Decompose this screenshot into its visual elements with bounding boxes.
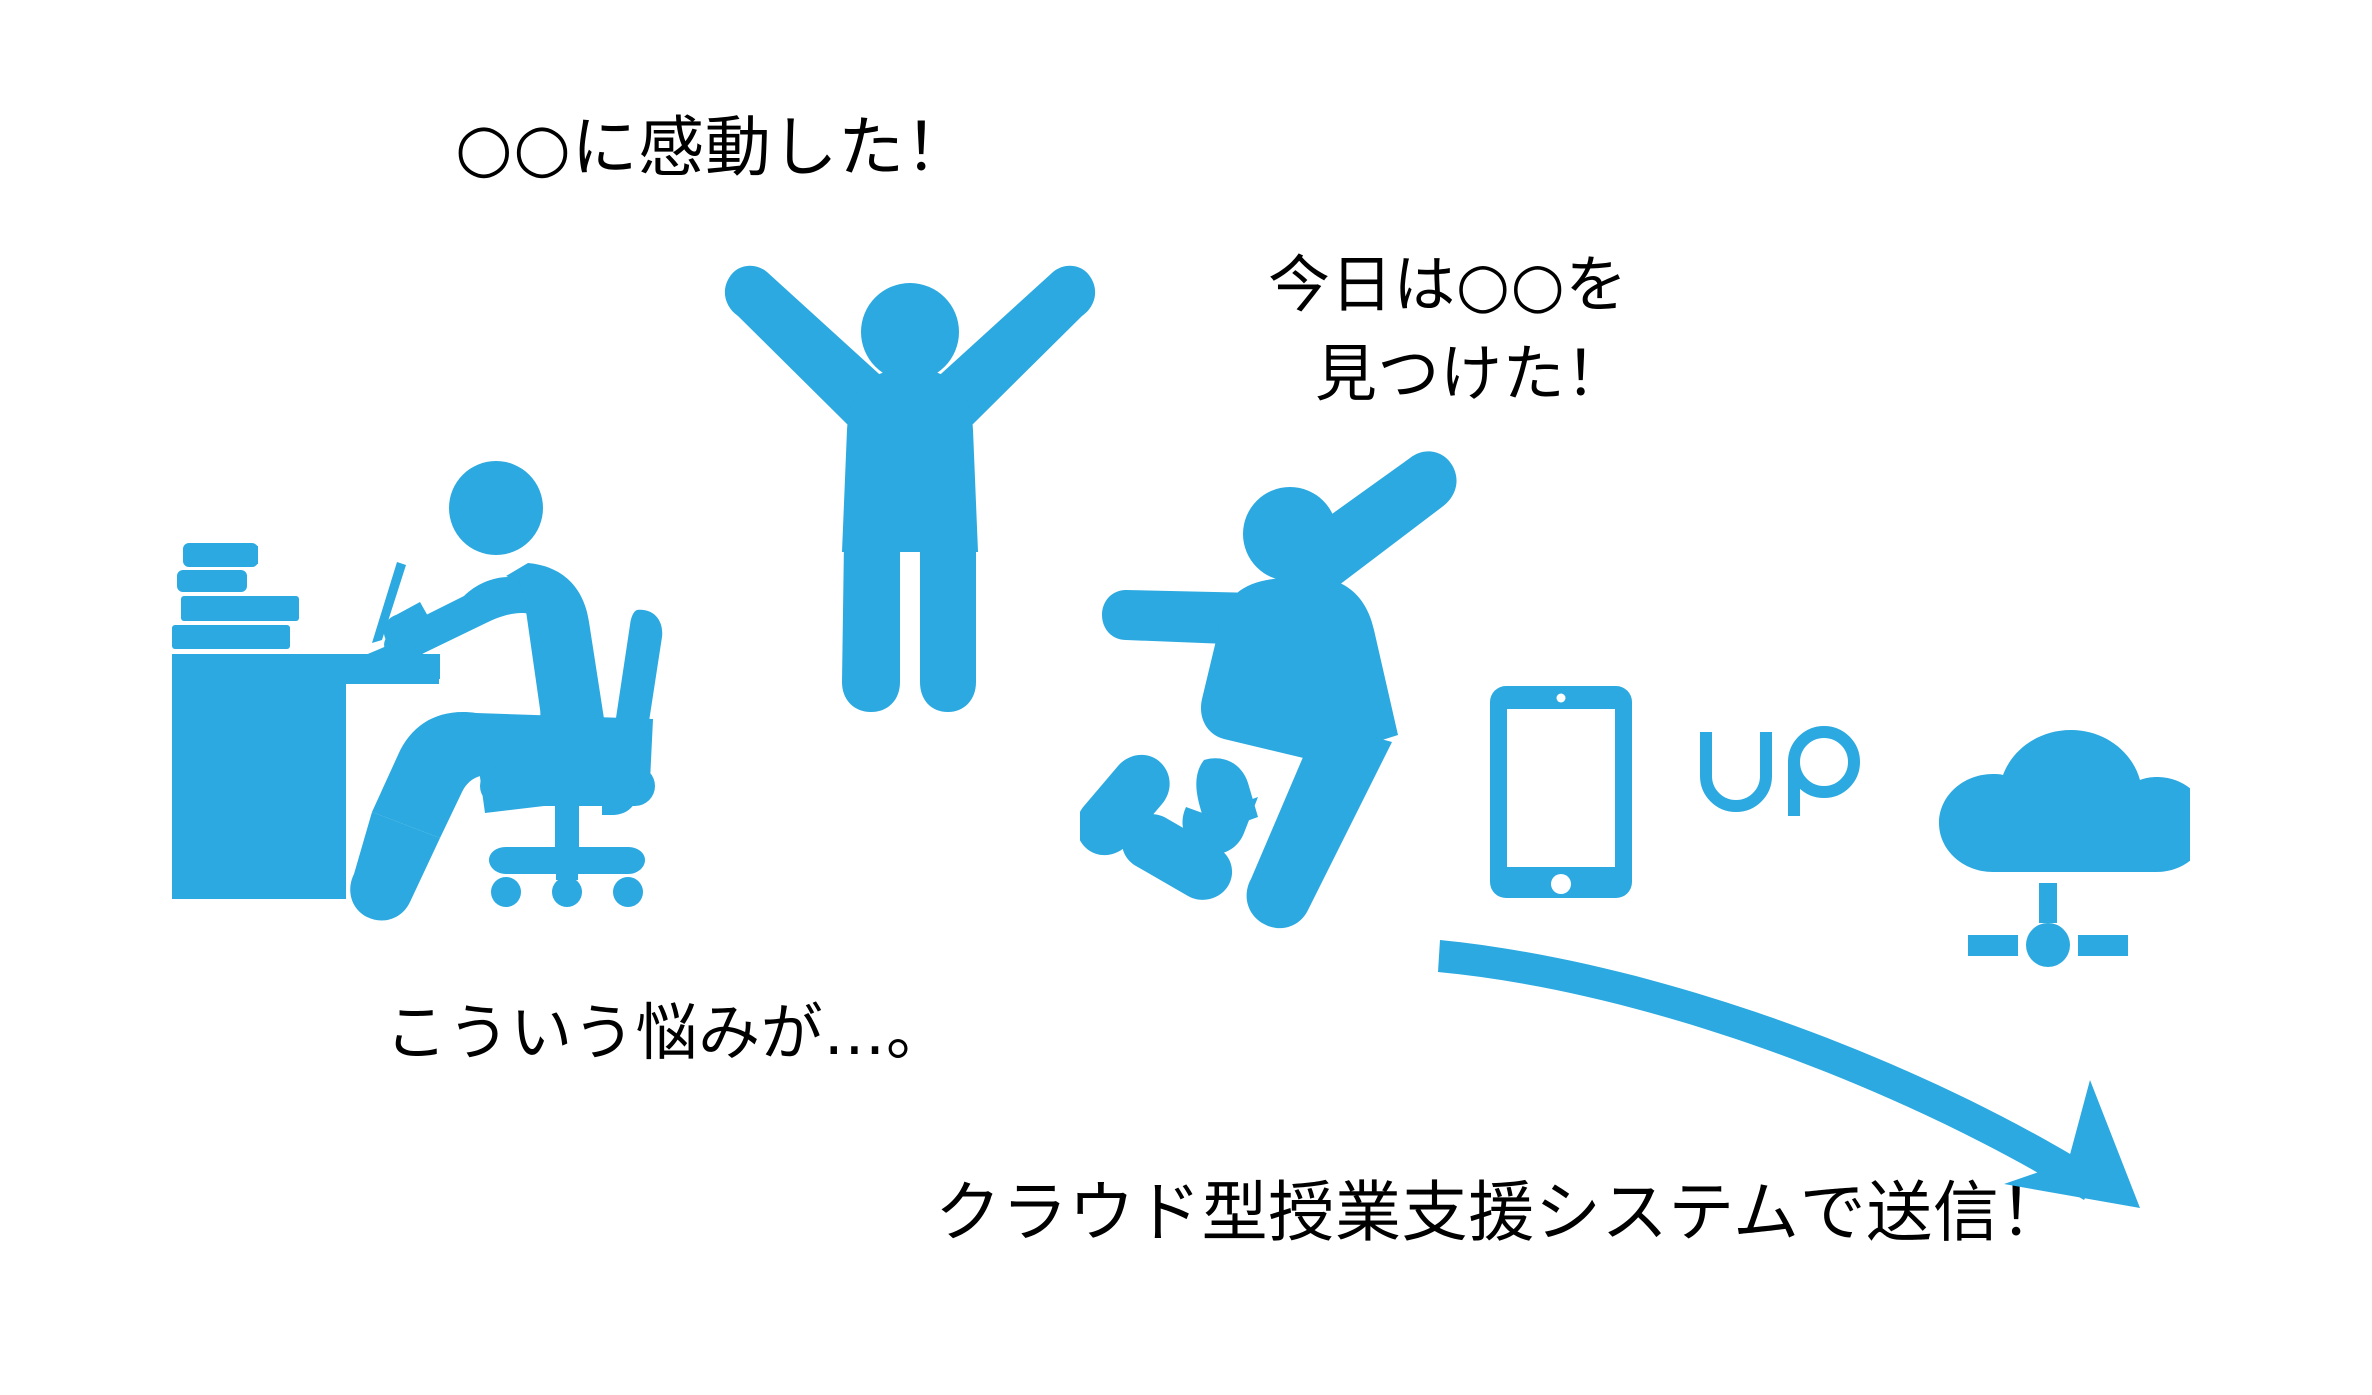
person-at-desk-writing-icon (150, 460, 690, 940)
caption-found-line2: 見つけた！ (1268, 336, 1628, 413)
curved-arrow-icon (1400, 900, 2280, 1230)
up-logo: up (1690, 718, 1870, 828)
tablet-icon (1460, 670, 1660, 930)
caption-worry: こういう悩みが…。 (385, 995, 949, 1072)
person-cheering-icon (720, 250, 1100, 720)
caption-found: 今日は○○を 見つけた！ (1268, 247, 1628, 413)
illustration-canvas: ○○に感動した！ 今日は○○を 見つけた！ こういう悩みが…。 クラウド型授業支… (0, 0, 2372, 1395)
person-jumping-icon (1080, 430, 1480, 930)
caption-found-line1: 今日は○○を (1268, 248, 1628, 321)
caption-joy: ○○に感動した！ (455, 107, 971, 189)
